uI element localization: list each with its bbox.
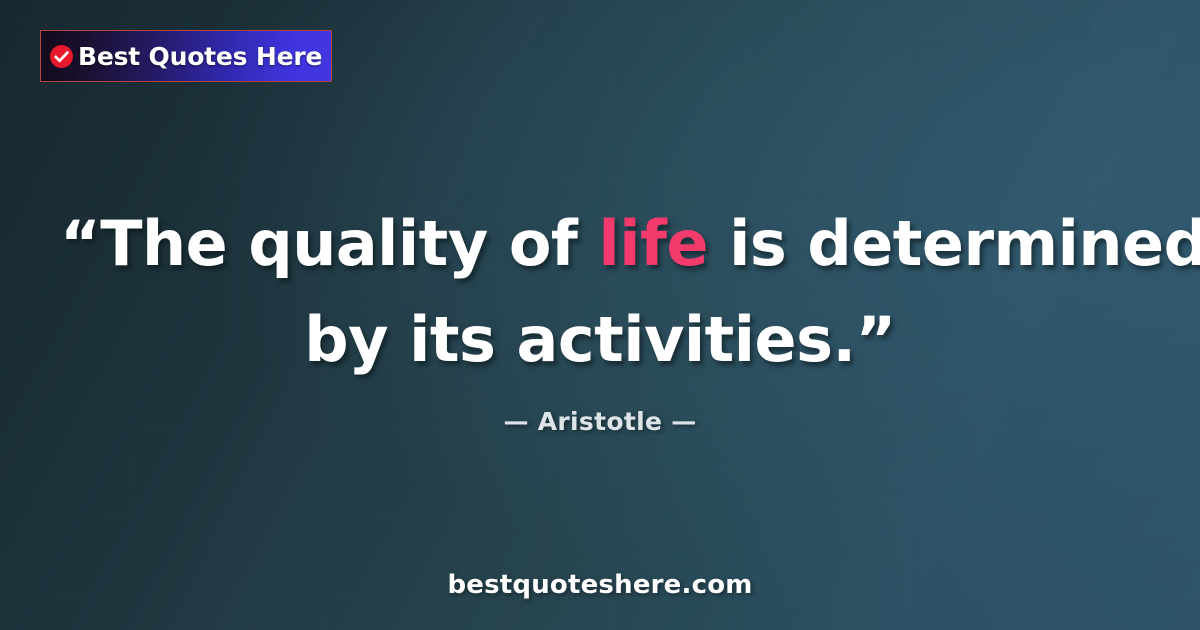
quote-line-1: “The quality of life is determined xyxy=(60,196,1140,292)
check-circle-icon xyxy=(49,44,74,69)
quote-accent-word: life xyxy=(598,207,708,280)
site-url: bestquoteshere.com xyxy=(0,570,1200,600)
brand-badge[interactable]: Best Quotes Here xyxy=(40,30,332,82)
quote-author: — Aristotle — xyxy=(0,407,1200,436)
brand-badge-label: Best Quotes Here xyxy=(78,44,322,69)
quote-card: Best Quotes Here “The quality of life is… xyxy=(0,0,1200,630)
quote-line-1-post: is determined xyxy=(708,207,1200,280)
quote-line-2: by its activities.” xyxy=(60,292,1140,388)
quote-text-block: “The quality of life is determined by it… xyxy=(0,196,1200,388)
quote-line-1-pre: “The quality of xyxy=(60,207,598,280)
